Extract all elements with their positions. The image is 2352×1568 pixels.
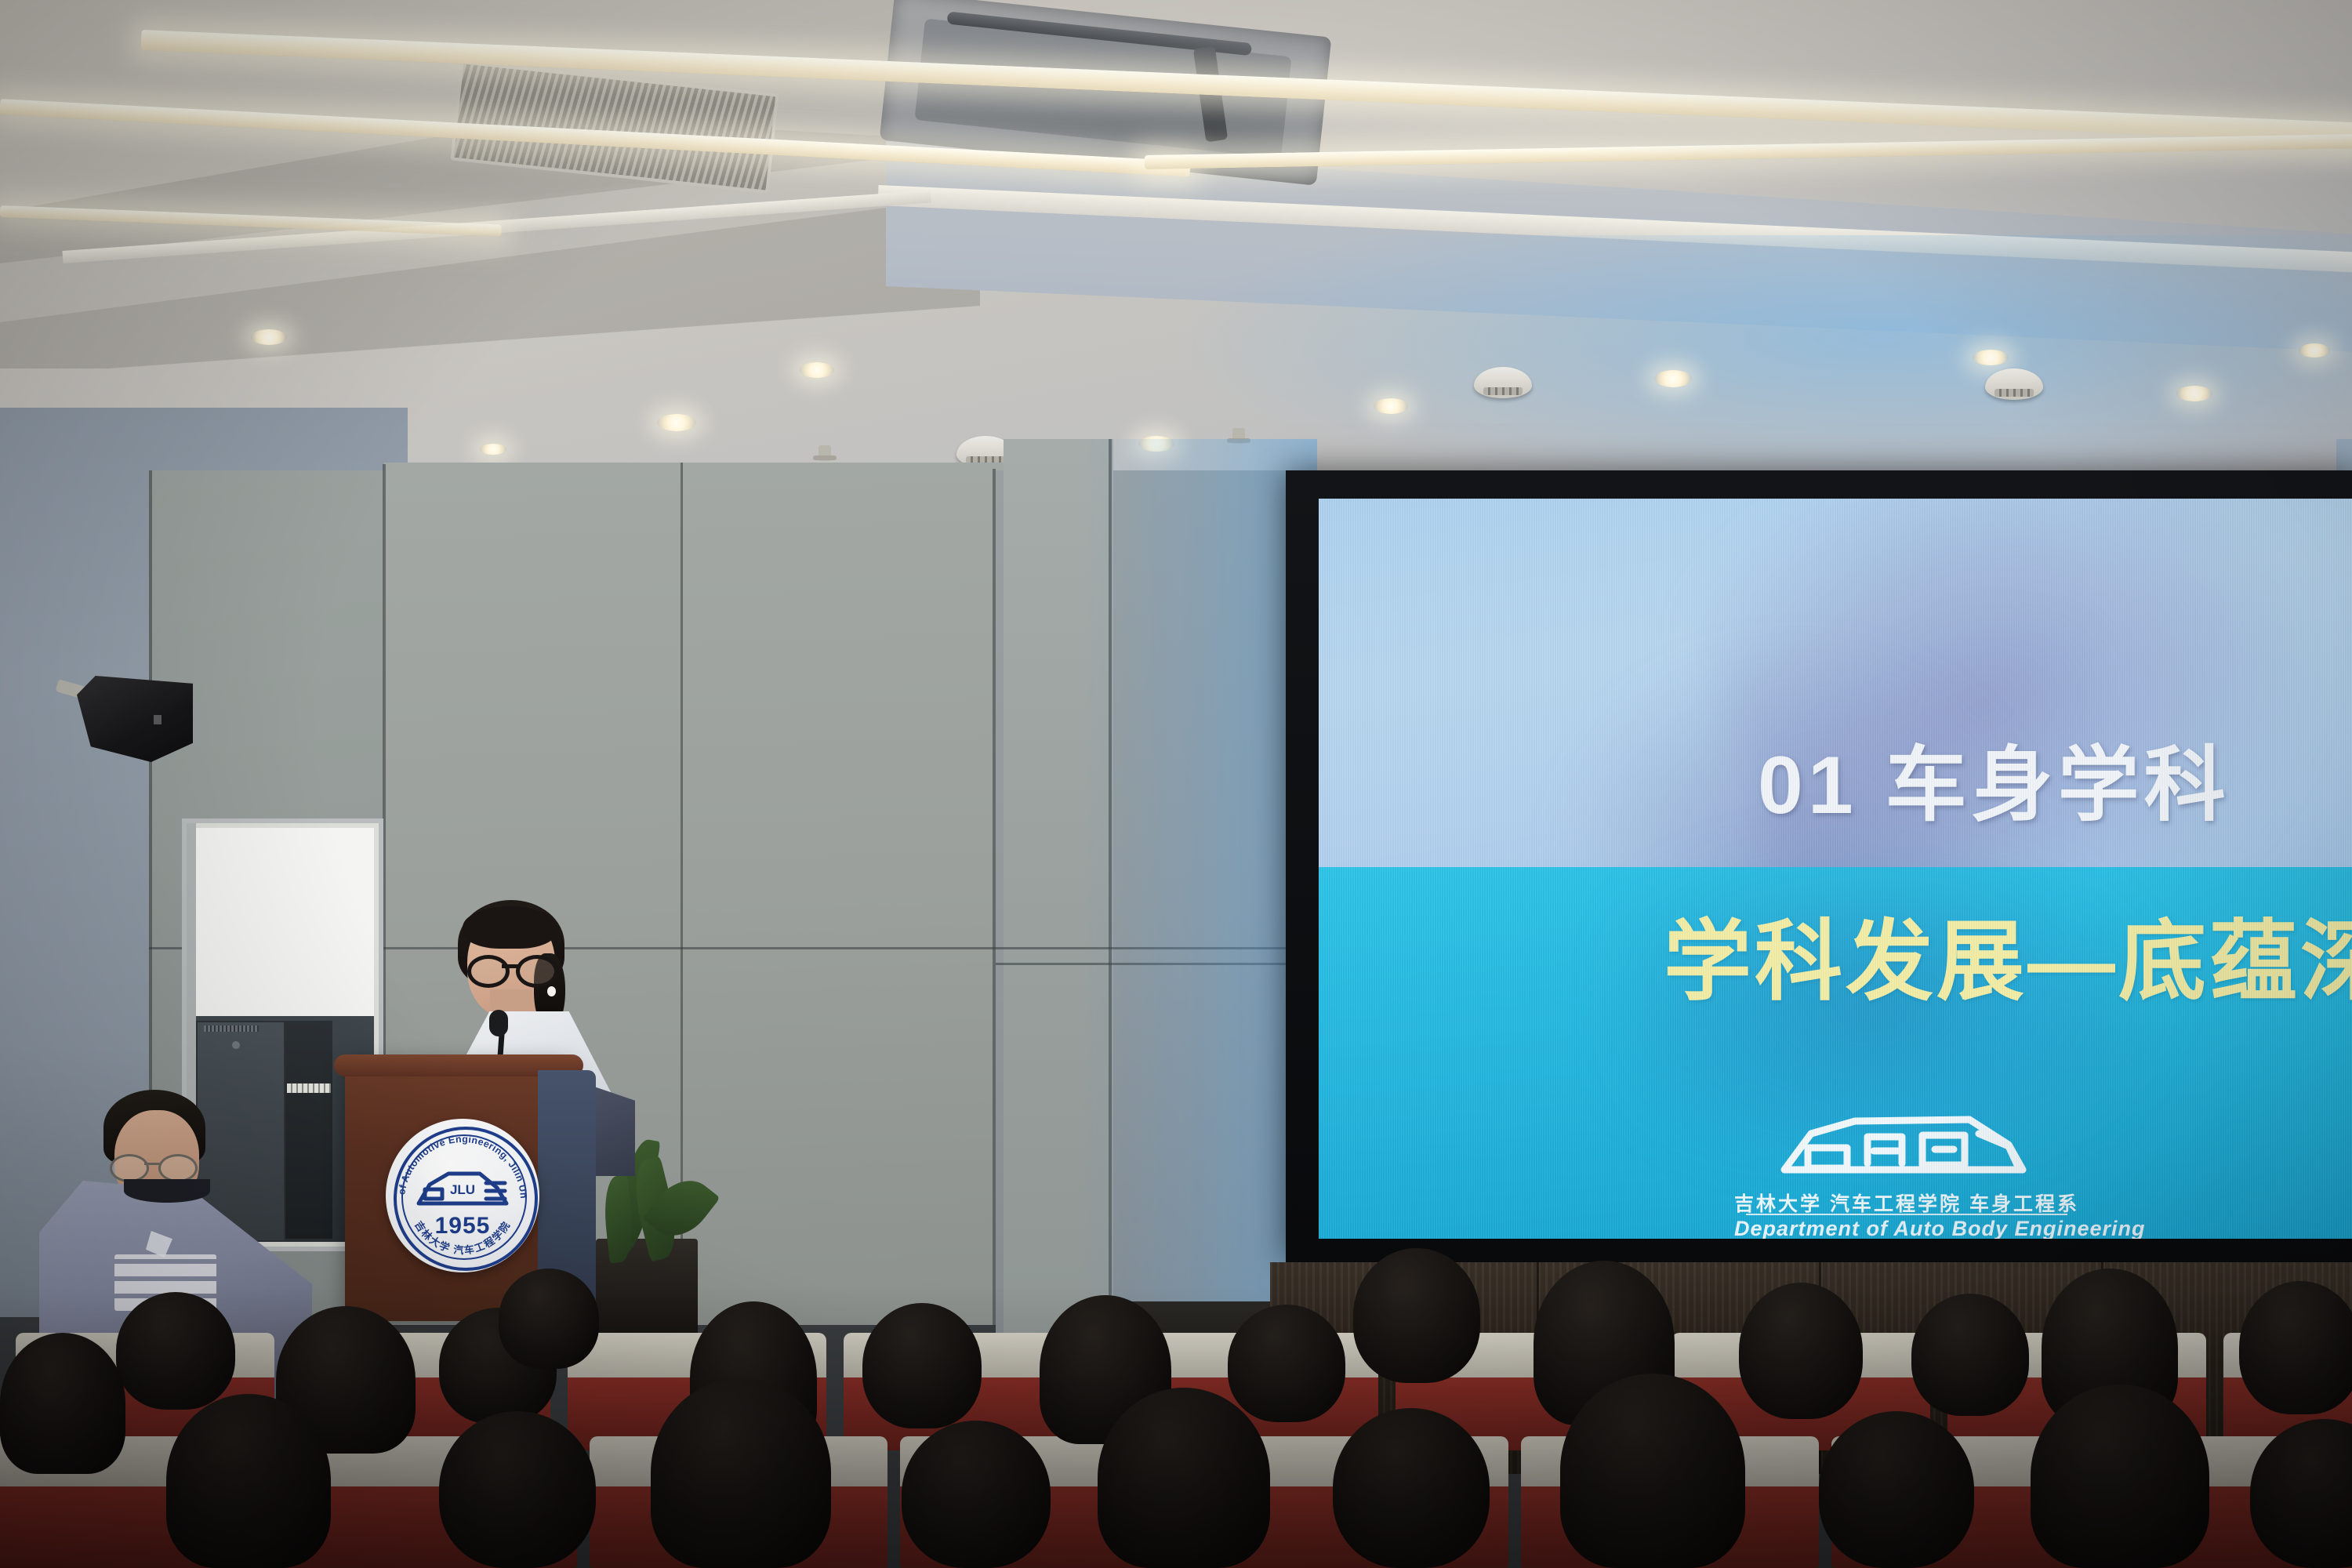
attendee-collar (124, 1179, 210, 1203)
department-name-en: Department of Auto Body Engineering (1734, 1217, 2079, 1239)
equipment-rack (285, 1021, 332, 1239)
wall-seam (993, 469, 996, 1328)
smoke-detector-icon (1985, 368, 2043, 400)
recessed-downlight-icon (251, 329, 287, 345)
presenter-earring (547, 986, 556, 996)
audience-head (651, 1378, 831, 1568)
audience-head (1560, 1374, 1745, 1568)
recessed-downlight-icon (480, 444, 506, 455)
sprinkler-head-icon (818, 445, 831, 461)
recessed-downlight-icon (2299, 343, 2330, 358)
audience-head (2239, 1281, 2352, 1414)
wall-blue-glow (1082, 439, 1317, 1333)
audience-head (116, 1292, 235, 1410)
rack-knob (232, 1041, 240, 1049)
lecture-hall-photo: 01 车身学科 学科发展—底蕴深厚 吉林大学 汽车工程学院 车身工程系 Depa… (0, 0, 2352, 1568)
svg-text:JLU: JLU (450, 1182, 475, 1197)
audience-head (1911, 1294, 2029, 1416)
crest-year: 1955 (386, 1213, 539, 1240)
department-name-cn: 吉林大学 汽车工程学院 车身工程系 (1734, 1189, 2079, 1217)
rack-terminal-strip (287, 1083, 331, 1093)
slide-heading: 01 车身学科 (1758, 718, 2230, 837)
audience-head (1819, 1411, 1974, 1568)
audience-head (166, 1394, 331, 1568)
slide-subheading: 学科发展—底蕴深厚 (1664, 891, 2352, 1018)
audience-head (862, 1303, 982, 1428)
audience-head (1333, 1408, 1490, 1568)
recessed-downlight-icon (1654, 370, 1692, 387)
crest-car-mark-icon: JLU (414, 1167, 511, 1213)
microphone-capsule (489, 1010, 508, 1036)
recessed-downlight-icon (1973, 350, 2009, 365)
smoke-detector-icon (1474, 367, 1532, 398)
university-crest: College of Automotive Engineering, Jilin… (386, 1119, 539, 1272)
recessed-downlight-icon (657, 414, 696, 431)
recessed-downlight-icon (800, 362, 834, 378)
audience-head (902, 1421, 1051, 1568)
rack-vent (204, 1025, 259, 1032)
recessed-downlight-icon (2176, 386, 2212, 401)
audience-head (2031, 1385, 2209, 1568)
audience-head (0, 1333, 125, 1474)
audience-head (1098, 1388, 1270, 1568)
presenter-glasses-icon (467, 955, 555, 982)
window-upper-pane (191, 828, 374, 1016)
audience-head (439, 1411, 596, 1568)
speaker-badge (154, 715, 162, 724)
audience-head (1739, 1283, 1863, 1419)
led-screen[interactable]: 01 车身学科 学科发展—底蕴深厚 吉林大学 汽车工程学院 车身工程系 Depa… (1319, 499, 2352, 1239)
presenter-fringe (463, 906, 557, 949)
audience-head (1353, 1248, 1480, 1383)
ceiling-blue-light-wash (1176, 235, 2352, 494)
department-divider (1746, 1214, 2067, 1215)
auto-body-car-logo-icon (1773, 1102, 2032, 1189)
audience-head (499, 1269, 599, 1369)
recessed-downlight-icon (1374, 398, 1408, 414)
audience-head (1228, 1305, 1345, 1422)
attendee-glasses-icon (110, 1154, 194, 1178)
